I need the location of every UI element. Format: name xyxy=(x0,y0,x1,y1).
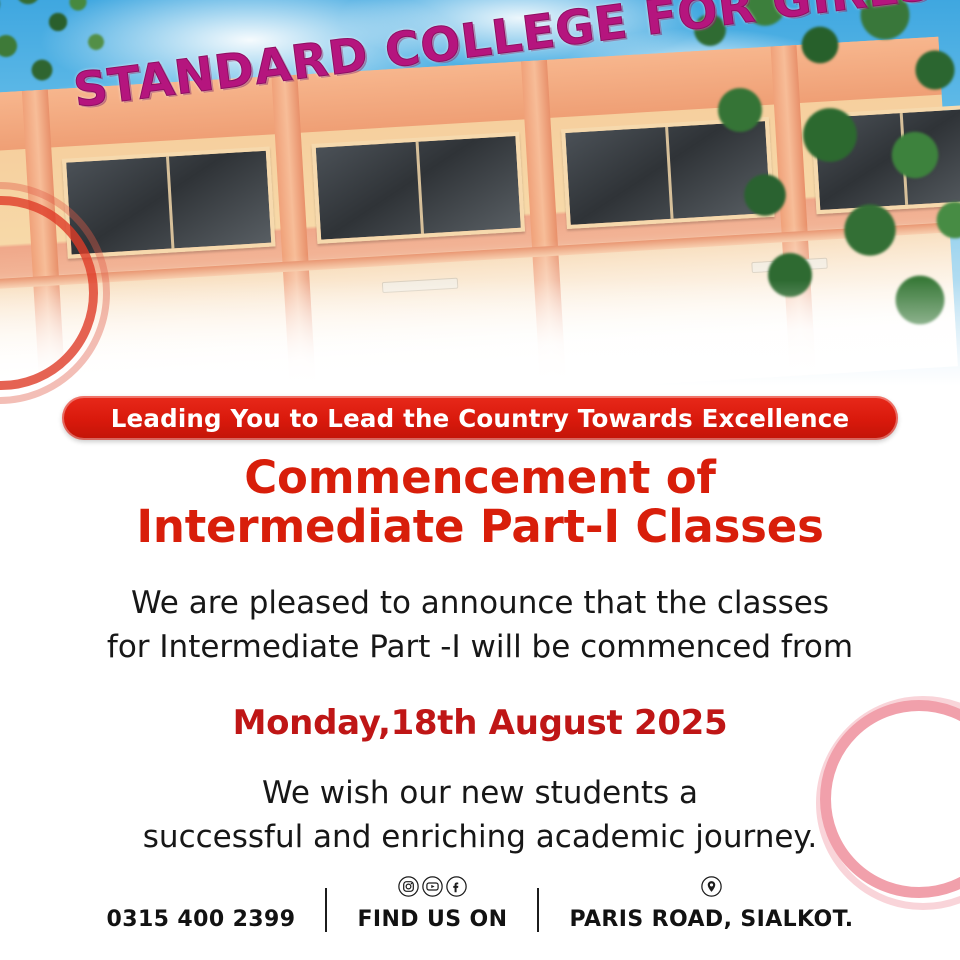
headline: Commencement of Intermediate Part-I Clas… xyxy=(0,454,960,551)
footer-bar: 0315 400 2399 xyxy=(0,878,960,932)
announcement-paragraph: We are pleased to announce that the clas… xyxy=(0,581,960,669)
instagram-icon[interactable] xyxy=(398,876,419,902)
photo-bottom-fade xyxy=(0,280,960,400)
youtube-icon[interactable] xyxy=(422,876,443,902)
footer-address-group: PARIS ROAD, SIALKOT. xyxy=(569,878,853,932)
footer-divider xyxy=(537,888,539,932)
location-pin-wrap xyxy=(701,878,722,900)
tagline-banner: Leading You to Lead the Country Towards … xyxy=(62,396,898,440)
footer-divider xyxy=(325,888,327,932)
headline-line-1: Commencement of xyxy=(0,454,960,503)
find-us-on-label: FIND US ON xyxy=(357,907,507,932)
phone-number[interactable]: 0315 400 2399 xyxy=(107,907,296,932)
window xyxy=(312,132,526,244)
headline-line-2: Intermediate Part-I Classes xyxy=(0,503,960,552)
well-wishes-text: We wish our new students a successful an… xyxy=(0,771,960,859)
footer-phone-group: 0315 400 2399 xyxy=(107,907,296,932)
location-pin-icon[interactable] xyxy=(701,876,722,902)
campus-photo: STANDARD COLLEGE FOR GIRLS xyxy=(0,0,960,400)
commencement-date: Monday,18th August 2025 xyxy=(0,703,960,743)
social-icon-row xyxy=(398,878,467,900)
address-text: PARIS ROAD, SIALKOT. xyxy=(569,907,853,932)
facebook-icon[interactable] xyxy=(446,876,467,902)
tagline-text: Leading You to Lead the Country Towards … xyxy=(111,404,850,433)
poster-canvas: STANDARD COLLEGE FOR GIRLS Leading You t… xyxy=(0,0,960,960)
announcement-content: Commencement of Intermediate Part-I Clas… xyxy=(0,446,960,859)
footer-social-group: FIND US ON xyxy=(357,878,507,932)
